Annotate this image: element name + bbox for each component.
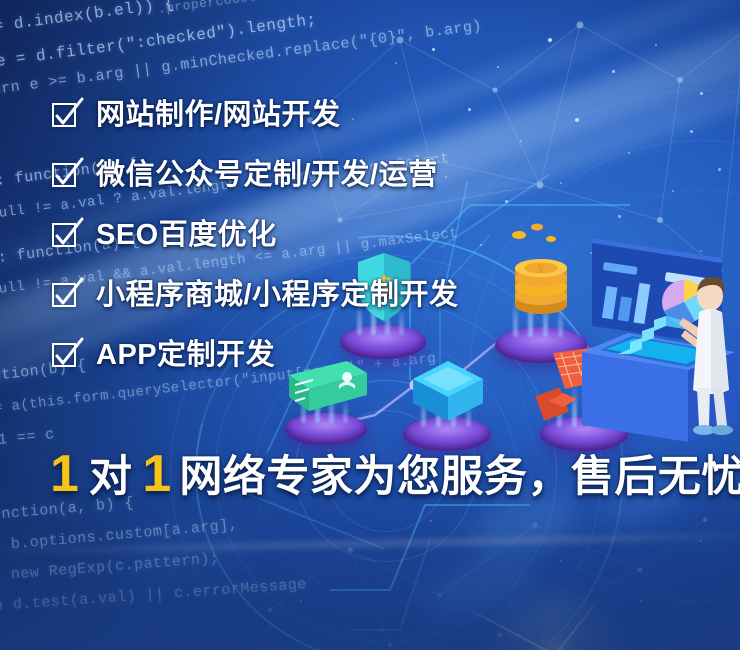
headline-middle-char: 对 xyxy=(89,456,133,499)
service-list: 网站制作/网站开发 微信公众号定制/开发/运营 SEO百度优化 xyxy=(52,100,692,370)
headline: 1 对 1 网络专家为您服务，售后无忧！ xyxy=(50,448,740,500)
list-item-label: 网站制作/网站开发 xyxy=(96,101,341,130)
headline-number-second: 1 xyxy=(142,448,171,500)
checkbox-checked-icon xyxy=(52,160,82,190)
list-item[interactable]: APP定制开发 xyxy=(52,340,692,370)
list-item[interactable]: 小程序商城/小程序定制开发 xyxy=(52,280,692,310)
list-item-label: APP定制开发 xyxy=(96,341,275,370)
list-item[interactable]: 网站制作/网站开发 xyxy=(52,100,692,130)
list-item[interactable]: SEO百度优化 xyxy=(52,220,692,250)
headline-tail: 网络专家为您服务，售后无忧！ xyxy=(179,456,740,499)
checkbox-checked-icon xyxy=(52,100,82,130)
list-item-label: SEO百度优化 xyxy=(96,221,277,250)
checkbox-checked-icon xyxy=(52,220,82,250)
checkbox-checked-icon xyxy=(52,340,82,370)
checkbox-checked-icon xyxy=(52,280,82,310)
headline-number-first: 1 xyxy=(50,448,79,500)
list-item[interactable]: 微信公众号定制/开发/运营 xyxy=(52,160,692,190)
list-item-label: 小程序商城/小程序定制开发 xyxy=(96,281,459,310)
promo-banner: .propercoostrmir("input[type=checkbox][n… xyxy=(0,0,740,650)
list-item-label: 微信公众号定制/开发/运营 xyxy=(96,161,438,190)
